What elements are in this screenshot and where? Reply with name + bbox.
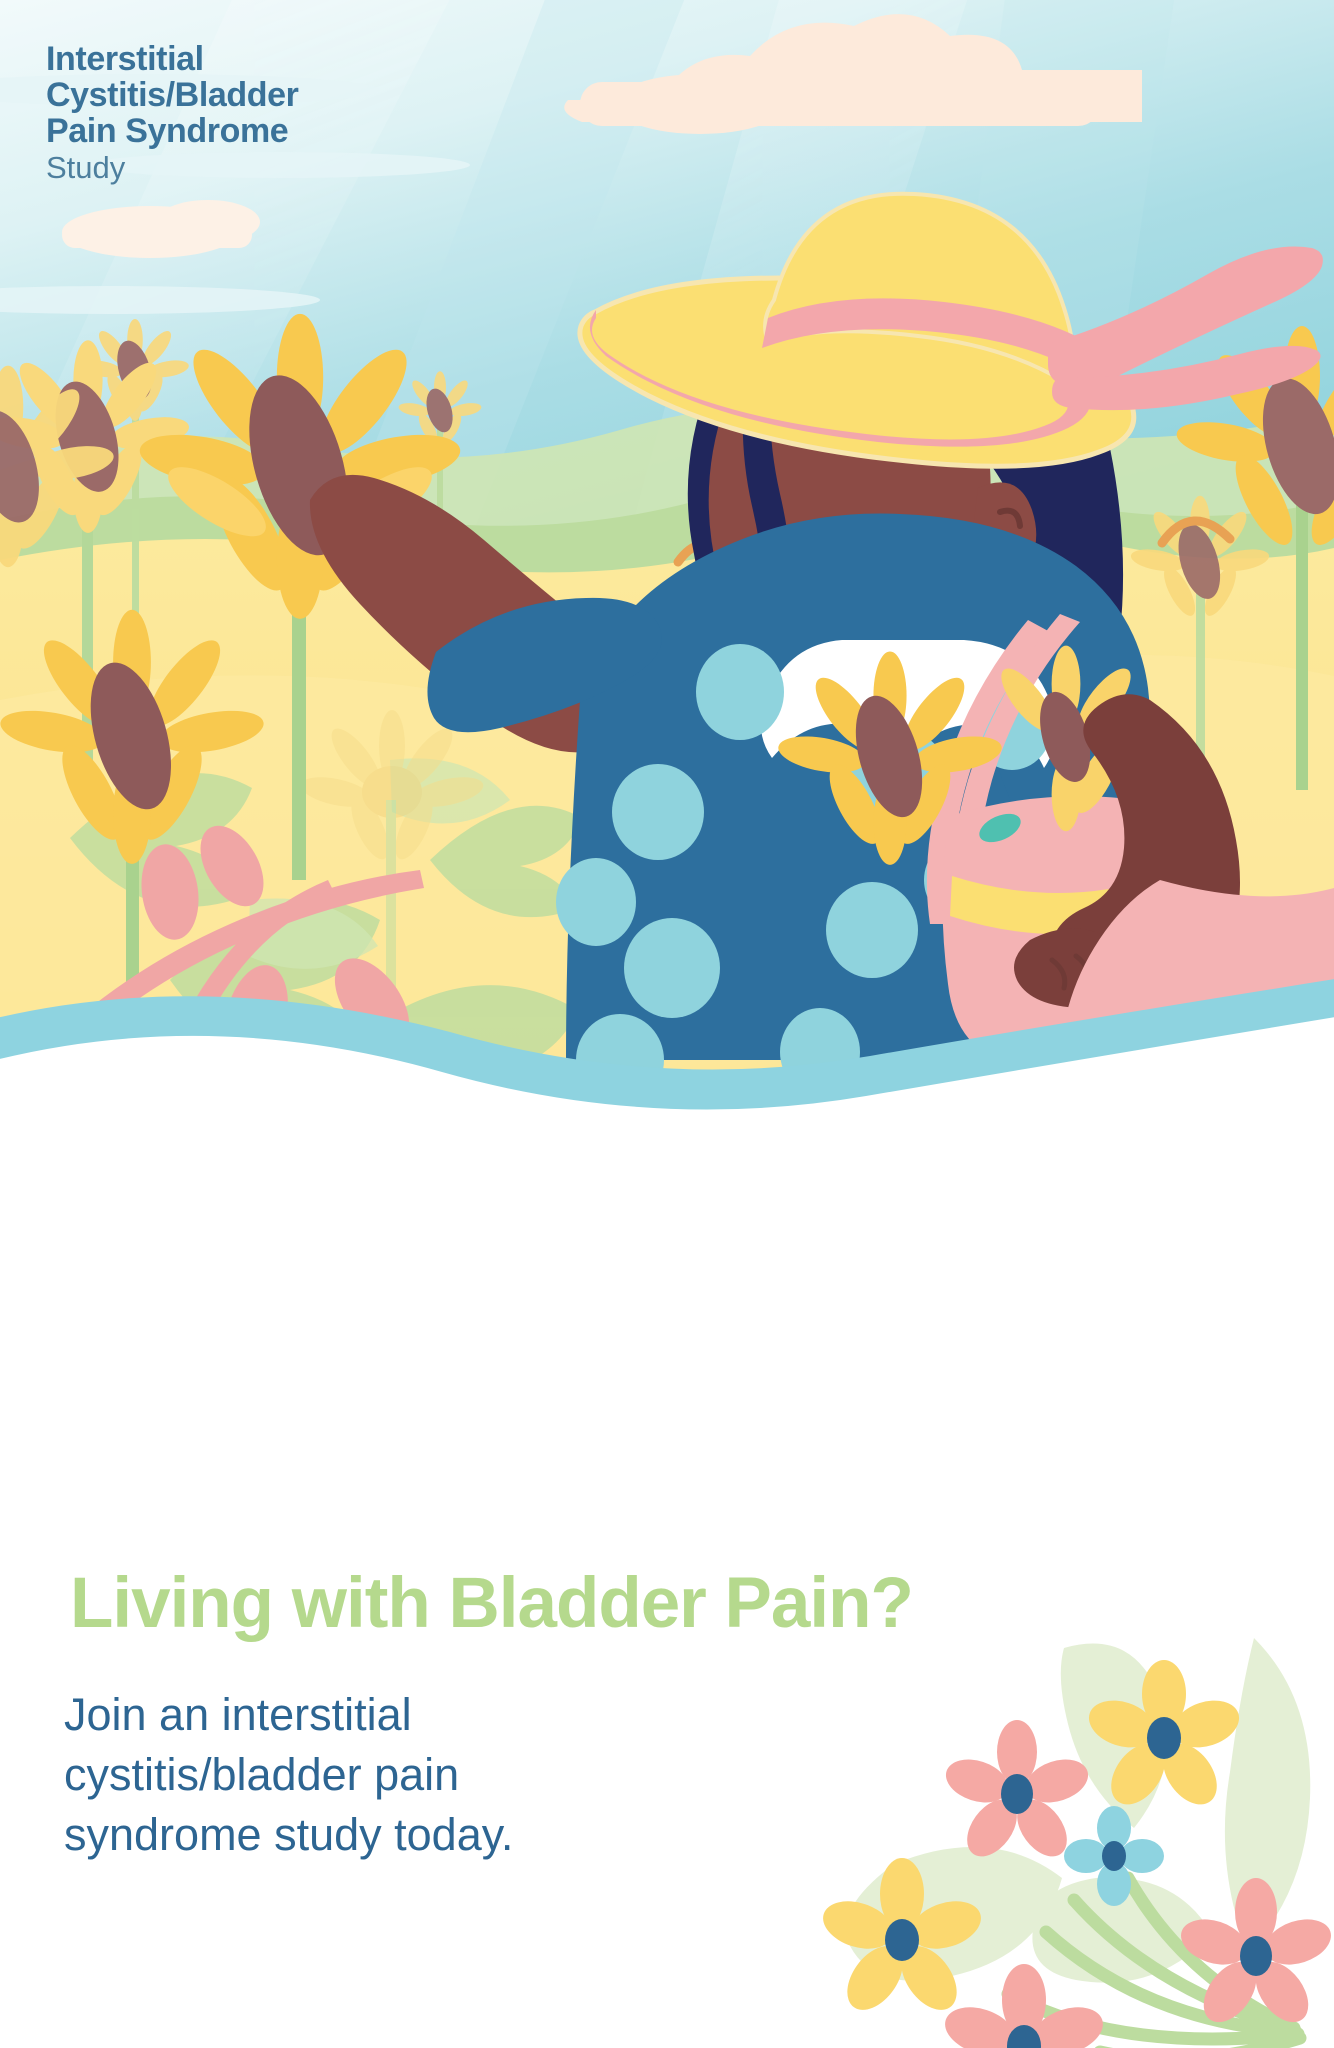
bouquet-flower-pink-1 bbox=[940, 1720, 1093, 1866]
title-line-1: Interstitial bbox=[46, 42, 466, 76]
poster-root: Interstitial Cystitis/Bladder Pain Syndr… bbox=[0, 0, 1334, 2048]
title-line-3: Pain Syndrome bbox=[46, 114, 466, 148]
study-title: Interstitial Cystitis/Bladder Pain Syndr… bbox=[46, 42, 466, 183]
title-line-2: Cystitis/Bladder bbox=[46, 78, 466, 112]
title-subtitle: Study bbox=[46, 152, 466, 183]
bottom-section: Living with Bladder Pain? Join an inters… bbox=[0, 1120, 1334, 2048]
decorative-flower-bouquet bbox=[734, 1628, 1334, 2048]
body-copy: Join an interstitial cystitis/bladder pa… bbox=[64, 1685, 624, 1865]
